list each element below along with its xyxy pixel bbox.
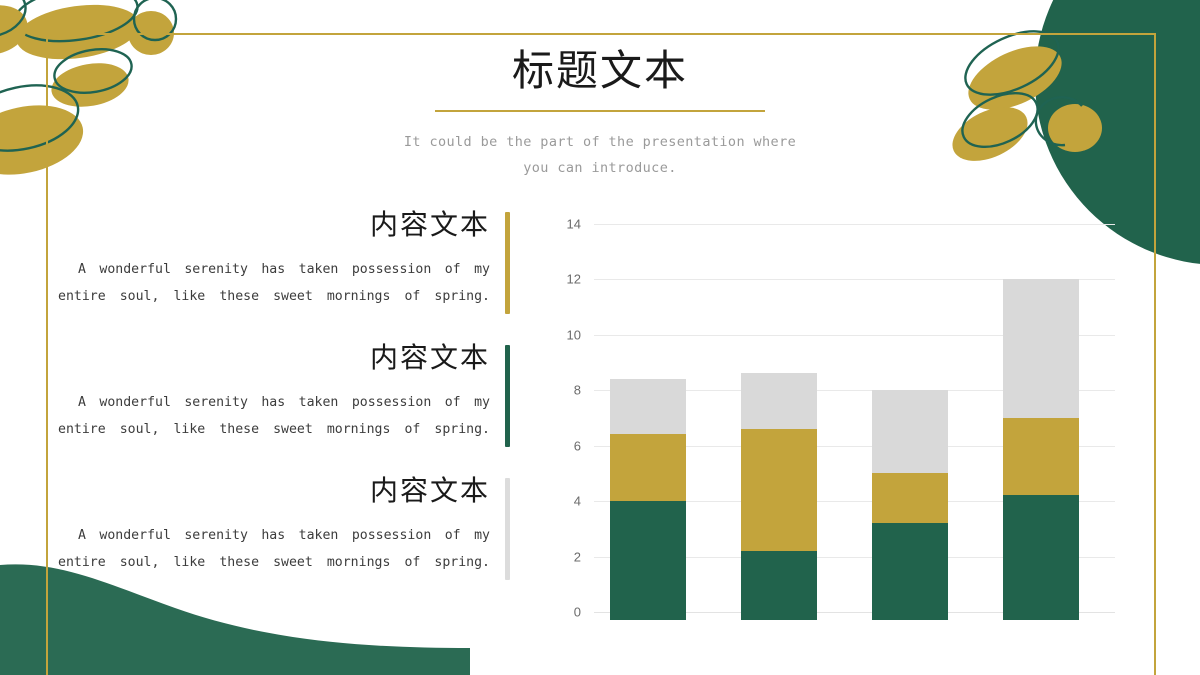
frame-line-left — [46, 33, 48, 675]
bar-group[interactable] — [1003, 279, 1079, 620]
bar-segment-series-3[interactable] — [610, 379, 686, 434]
bar-group[interactable] — [610, 379, 686, 620]
title-divider — [435, 110, 765, 111]
page-title: 标题文本 — [300, 48, 900, 96]
bar-segment-series-1[interactable] — [872, 523, 948, 620]
y-axis-tick-6: 6 — [541, 438, 581, 453]
content-block-body: A wonderful serenity has taken possessio… — [58, 389, 490, 443]
bar-segment-series-1[interactable] — [610, 501, 686, 620]
bar-segment-series-3[interactable] — [872, 390, 948, 473]
chart-plot-area: 02468101214 — [548, 210, 1148, 620]
frame-line-right — [1154, 33, 1156, 675]
page-subtitle: It could be the part of the presentation… — [300, 129, 900, 182]
gridline-14 — [594, 224, 1115, 225]
gold-blob-decor — [0, 0, 33, 62]
teal-outline-decor — [956, 18, 1069, 107]
y-axis-tick-0: 0 — [541, 605, 581, 620]
content-block-body: A wonderful serenity has taken possessio… — [58, 256, 490, 310]
content-block-3: 内容文本 A wonderful serenity has taken poss… — [58, 474, 510, 576]
content-block-2: 内容文本 A wonderful serenity has taken poss… — [58, 341, 510, 443]
slide: 标题文本 It could be the part of the present… — [0, 0, 1200, 675]
teal-outline-decor — [51, 44, 135, 99]
subtitle-line-2: you can introduce. — [300, 155, 900, 181]
bar-segment-series-2[interactable] — [610, 434, 686, 501]
gold-blob-decor — [959, 33, 1072, 122]
teal-outline-decor — [0, 76, 84, 160]
content-blocks: 内容文本 A wonderful serenity has taken poss… — [58, 208, 510, 576]
teal-outline-decor — [11, 0, 141, 48]
y-axis-tick-2: 2 — [541, 549, 581, 564]
y-axis-tick-10: 10 — [541, 327, 581, 342]
bar-group[interactable] — [872, 390, 948, 620]
content-block-heading: 内容文本 — [58, 474, 490, 509]
subtitle-line-1: It could be the part of the presentation… — [300, 129, 900, 155]
teal-outline-decor — [0, 0, 31, 44]
gold-blob-decor — [0, 95, 90, 185]
stacked-bar-chart: 02468101214 — [548, 210, 1148, 620]
y-axis-tick-12: 12 — [541, 272, 581, 287]
y-axis-tick-4: 4 — [541, 494, 581, 509]
bar-segment-series-2[interactable] — [741, 429, 817, 551]
bar-segment-series-2[interactable] — [1003, 418, 1079, 496]
bar-segment-series-1[interactable] — [1003, 495, 1079, 620]
content-block-heading: 内容文本 — [58, 208, 490, 243]
teal-wave-decor — [0, 564, 470, 675]
accent-bar-1 — [505, 212, 510, 314]
bar-group[interactable] — [741, 373, 817, 620]
gold-blob-decor — [1048, 104, 1102, 152]
frame-line-top — [46, 33, 1156, 35]
bar-segment-series-2[interactable] — [872, 473, 948, 523]
bar-segment-series-3[interactable] — [741, 373, 817, 428]
content-block-body: A wonderful serenity has taken possessio… — [58, 522, 490, 576]
teal-outline-decor — [954, 82, 1046, 157]
header: 标题文本 It could be the part of the present… — [300, 48, 900, 181]
accent-bar-3 — [505, 478, 510, 580]
accent-bar-2 — [505, 345, 510, 447]
teal-outline-decor — [1036, 97, 1082, 145]
content-block-1: 内容文本 A wonderful serenity has taken poss… — [58, 208, 510, 310]
y-axis-tick-8: 8 — [541, 383, 581, 398]
content-block-heading: 内容文本 — [58, 341, 490, 376]
gold-blob-decor — [48, 58, 132, 113]
bar-segment-series-1[interactable] — [741, 551, 817, 620]
y-axis-tick-14: 14 — [541, 217, 581, 232]
bar-segment-series-3[interactable] — [1003, 279, 1079, 418]
gold-blob-decor — [944, 96, 1036, 171]
